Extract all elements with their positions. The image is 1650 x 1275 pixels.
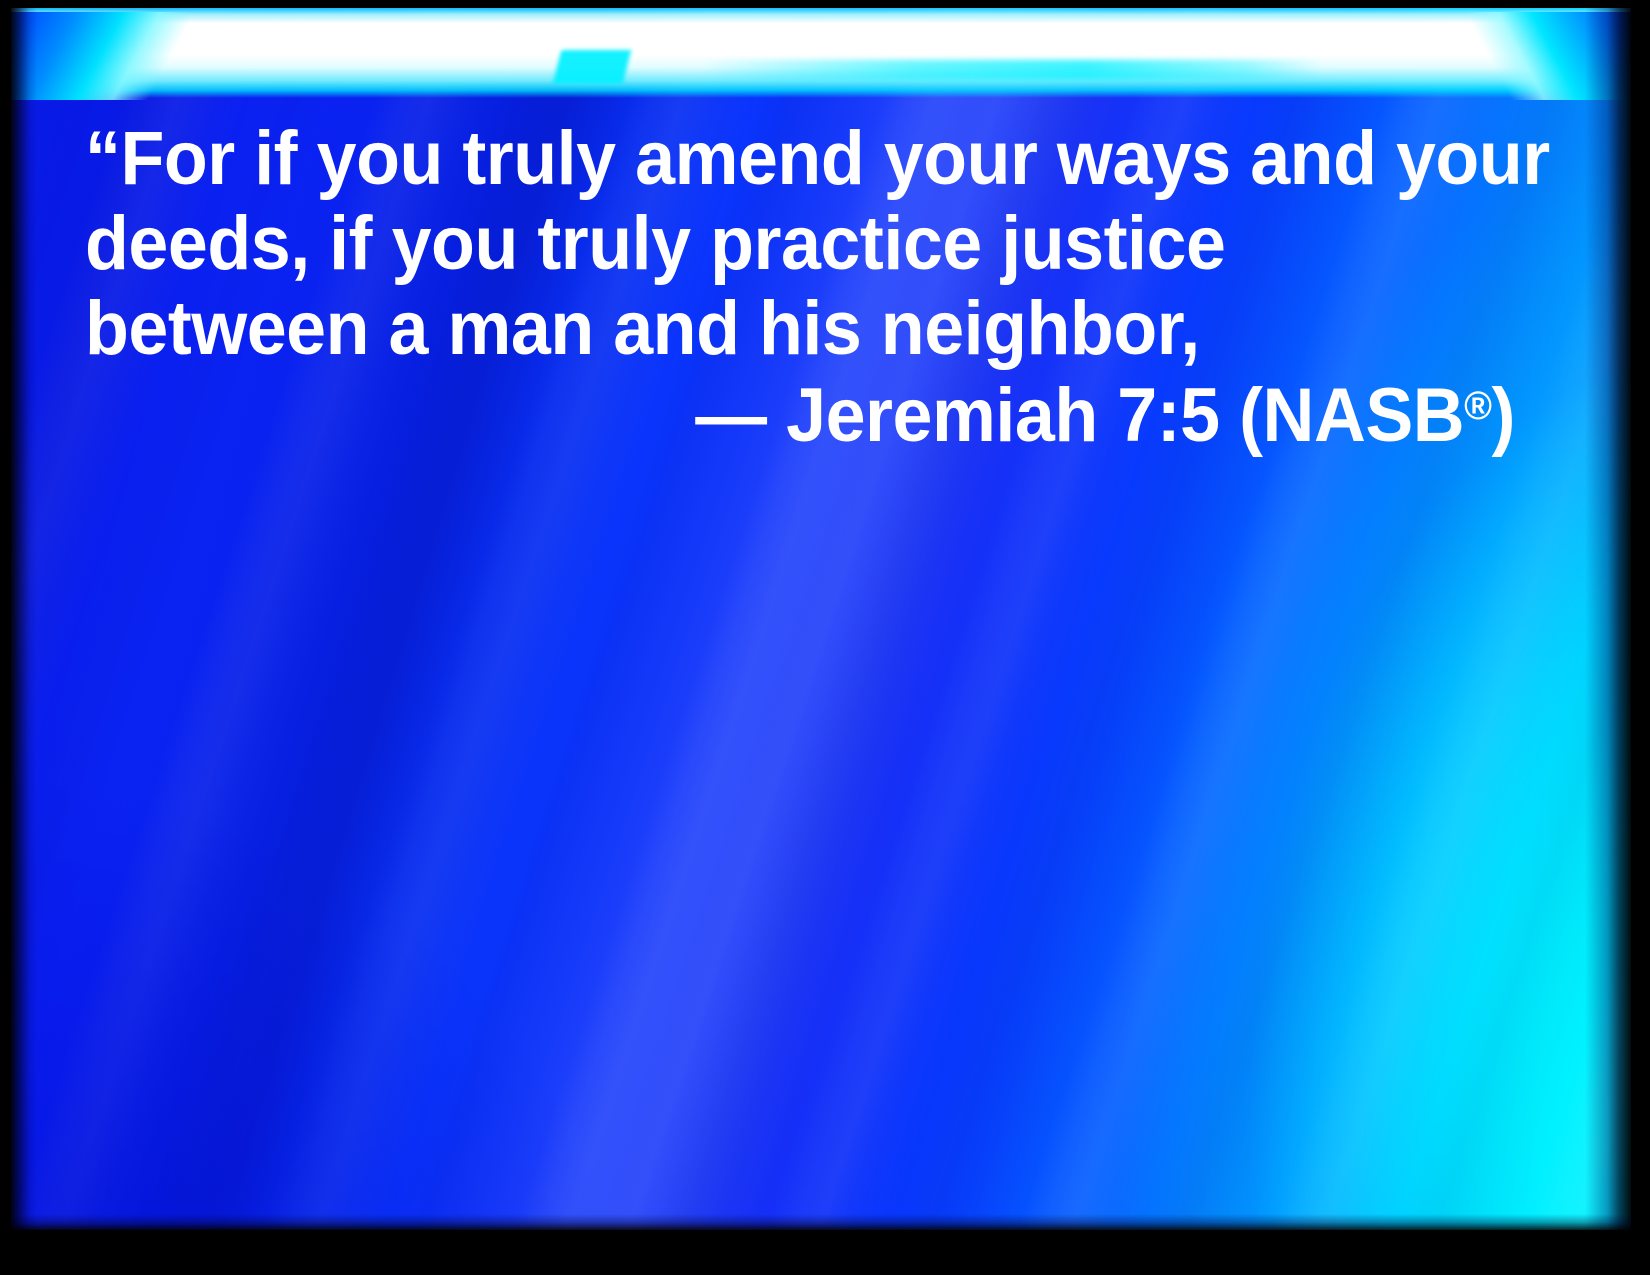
slide-frame: “For if you truly amend your ways and yo… (0, 0, 1650, 1275)
verse-line-1: “For if you truly amend your ways and yo… (85, 116, 1436, 201)
canvas-edge-bottom (11, 1214, 1631, 1230)
canvas-edge-right (1585, 8, 1631, 1230)
attribution-translation: (NASB (1239, 373, 1464, 458)
slide-canvas: “For if you truly amend your ways and yo… (11, 8, 1631, 1230)
verse-attribution: — Jeremiah 7:5 (NASB®) (164, 373, 1515, 458)
canvas-edge-left (11, 8, 37, 1230)
verse-line-2: deeds, if you truly practice justice (85, 201, 1436, 286)
top-glow-band (11, 8, 1631, 100)
registered-trademark-icon: ® (1464, 384, 1491, 428)
band-wedge-left (11, 12, 261, 100)
attribution-translation-close: ) (1492, 373, 1515, 458)
band-cyan-sheen (701, 60, 1321, 80)
attribution-book: Jeremiah (786, 373, 1098, 458)
attribution-em-dash: — (695, 373, 766, 458)
verse-line-3: between a man and his neighbor, (85, 286, 1436, 371)
verse-text-block: “For if you truly amend your ways and yo… (85, 116, 1515, 458)
attribution-reference: 7:5 (1117, 373, 1219, 458)
band-cyan-notch (553, 50, 631, 84)
